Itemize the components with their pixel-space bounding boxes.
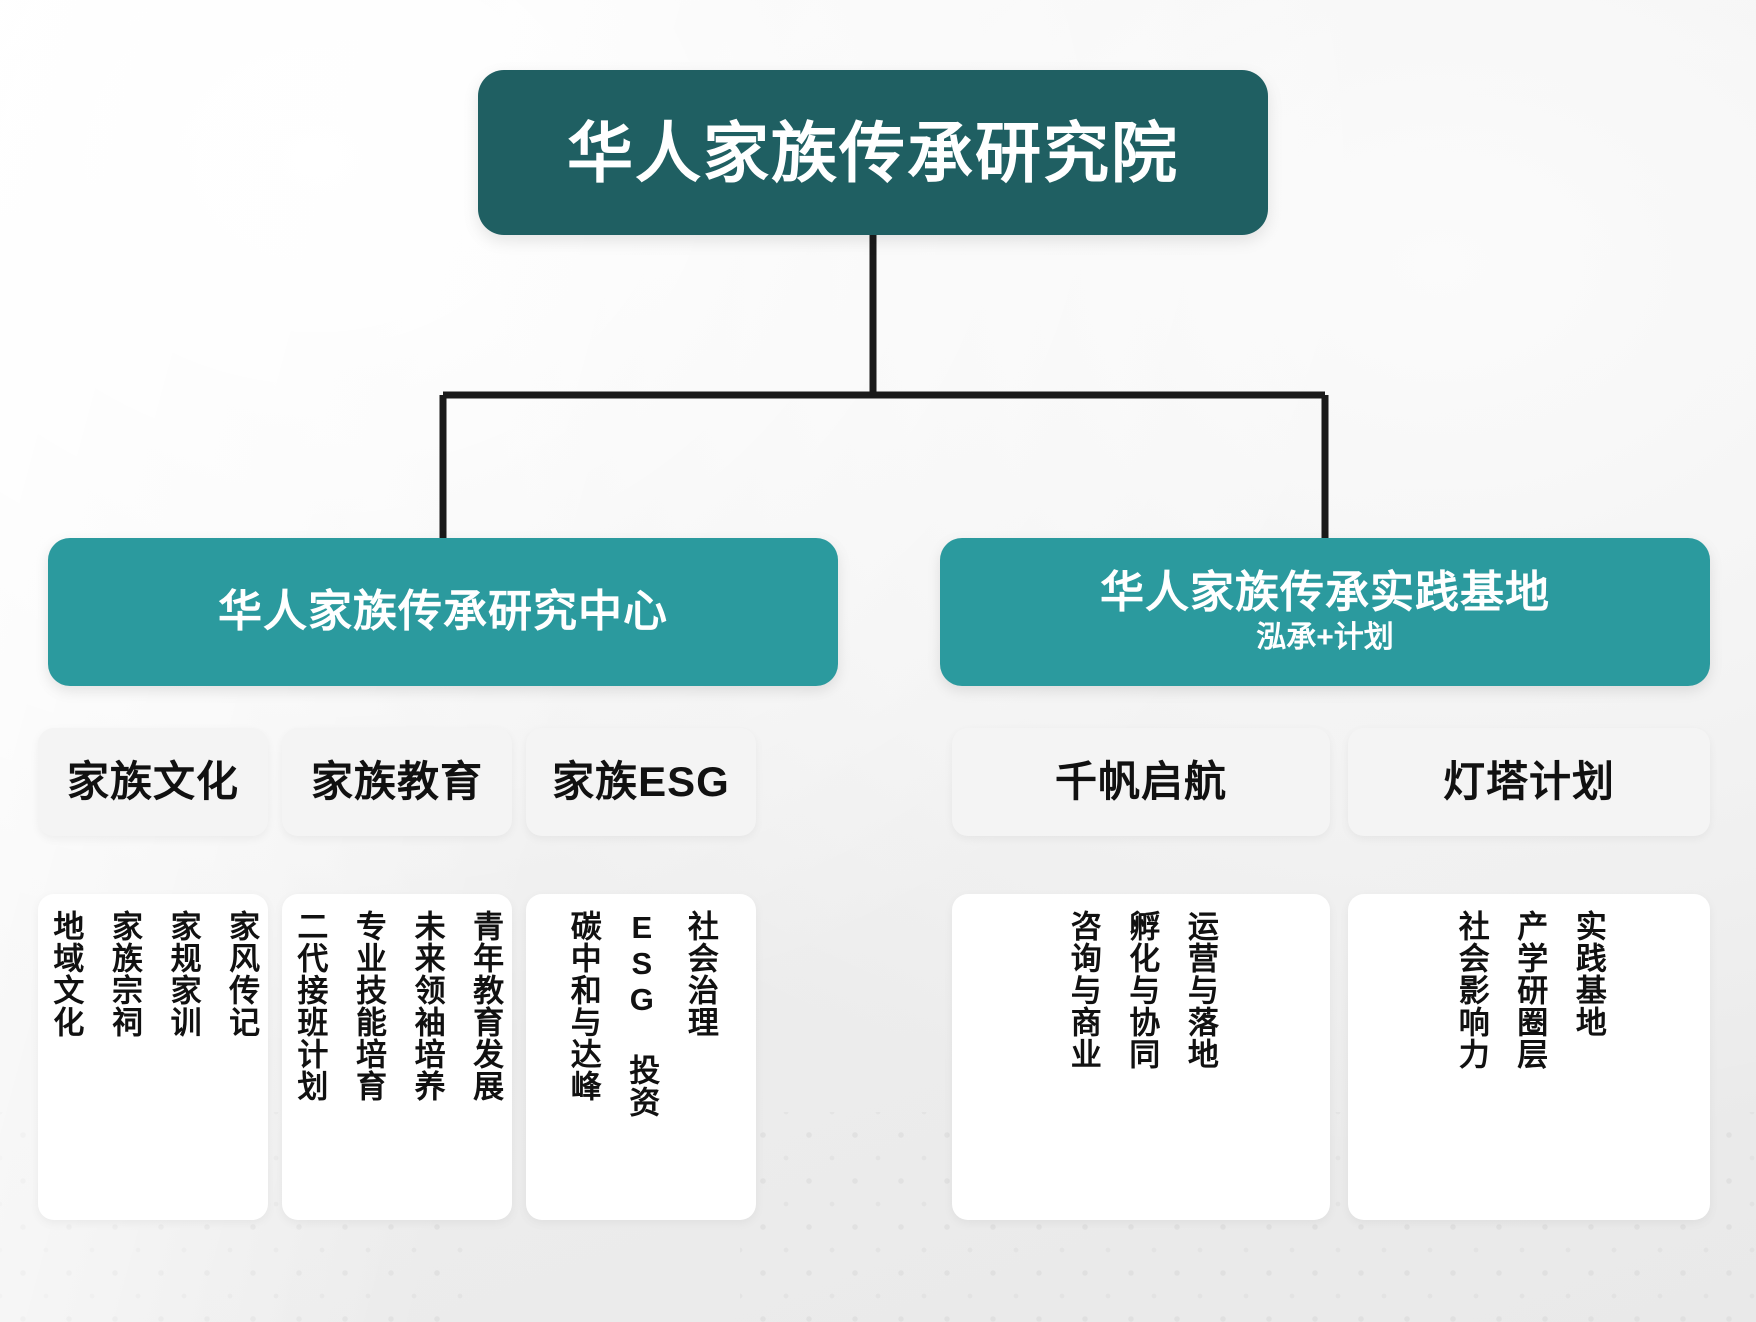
detail-card-family-esg[interactable]: 社会治理 ESG 投资 碳中和与达峰: [526, 894, 756, 1220]
category-label: 家族教育: [311, 761, 483, 803]
branch-node-research-center[interactable]: 华人家族传承研究中心: [48, 538, 838, 686]
detail-item: 社会影响力: [1452, 910, 1489, 1070]
branch-node-practice-base[interactable]: 华人家族传承实践基地 泓承+计划: [940, 538, 1710, 686]
detail-item: 地域文化: [47, 910, 84, 1038]
detail-item: 专业技能培育: [349, 910, 386, 1102]
branch-node-label: 华人家族传承研究中心: [218, 587, 668, 638]
detail-item: 社会治理: [681, 910, 718, 1038]
detail-card-family-culture[interactable]: 家风传记 家规家训 家族宗祠 地域文化: [38, 894, 268, 1220]
category-label: 千帆启航: [1055, 761, 1227, 803]
root-node[interactable]: 华人家族传承研究院: [478, 70, 1268, 235]
root-node-label: 华人家族传承研究院: [567, 120, 1179, 186]
detail-item: 实践基地: [1569, 910, 1606, 1038]
detail-item: 二代接班计划: [291, 910, 328, 1102]
detail-item: 碳中和与达峰: [564, 910, 601, 1102]
detail-item: ESG 投资: [623, 910, 660, 1118]
detail-item: 孵化与协同: [1123, 910, 1160, 1070]
branch-node-label: 华人家族传承实践基地: [1100, 568, 1550, 619]
detail-item: 咨询与商业: [1064, 910, 1101, 1070]
category-label: 家族文化: [67, 761, 239, 803]
category-card-family-education[interactable]: 家族教育: [282, 728, 512, 836]
category-card-family-esg[interactable]: 家族ESG: [526, 728, 756, 836]
category-card-qianfan-qihang[interactable]: 千帆启航: [952, 728, 1330, 836]
category-card-dengta-jihua[interactable]: 灯塔计划: [1348, 728, 1710, 836]
branch-node-subtitle: 泓承+计划: [1256, 620, 1394, 656]
category-card-family-culture[interactable]: 家族文化: [38, 728, 268, 836]
detail-card-dengta-jihua[interactable]: 实践基地 产学研圈层 社会影响力: [1348, 894, 1710, 1220]
detail-item: 产学研圈层: [1511, 910, 1548, 1070]
detail-card-family-education[interactable]: 青年教育发展 未来领袖培养 专业技能培育 二代接班计划: [282, 894, 512, 1220]
detail-item: 家风传记: [223, 910, 260, 1038]
detail-item: 家族宗祠: [105, 910, 142, 1038]
detail-item: 未来领袖培养: [408, 910, 445, 1102]
detail-card-qianfan-qihang[interactable]: 运营与落地 孵化与协同 咨询与商业: [952, 894, 1330, 1220]
detail-item: 青年教育发展: [467, 910, 504, 1102]
category-label: 家族ESG: [552, 761, 730, 803]
detail-item: 家规家训: [164, 910, 201, 1038]
category-label: 灯塔计划: [1443, 761, 1615, 803]
detail-item: 运营与落地: [1181, 910, 1218, 1070]
